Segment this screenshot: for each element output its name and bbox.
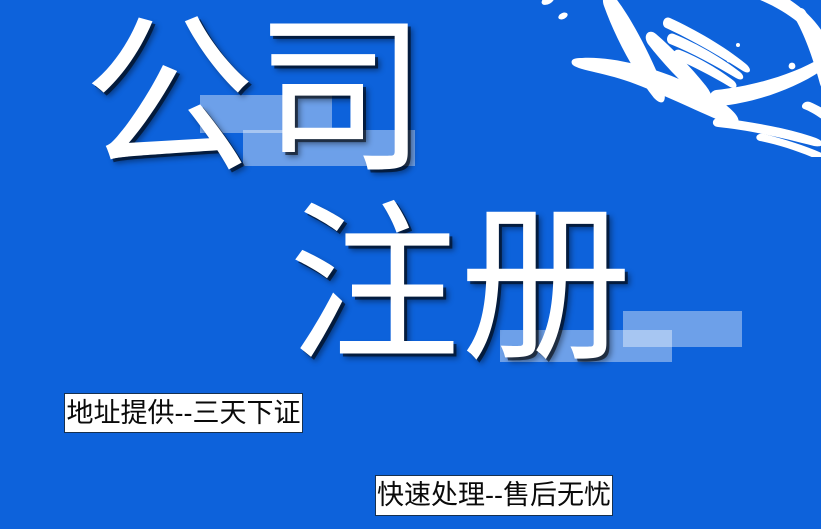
headline-line-1: 公司 [83, 12, 427, 184]
caption-box-address: 地址提供--三天下证 [64, 393, 303, 433]
caption-box-service: 快速处理--售后无忧 [375, 475, 613, 516]
promo-poster: 公司 注册 地址提供--三天下证 快速处理--售后无忧 [0, 0, 821, 529]
ink-brush-swirl-icon [520, 0, 821, 157]
headline-line-2: 注册 [288, 200, 632, 372]
highlight-bar-3 [623, 311, 742, 347]
